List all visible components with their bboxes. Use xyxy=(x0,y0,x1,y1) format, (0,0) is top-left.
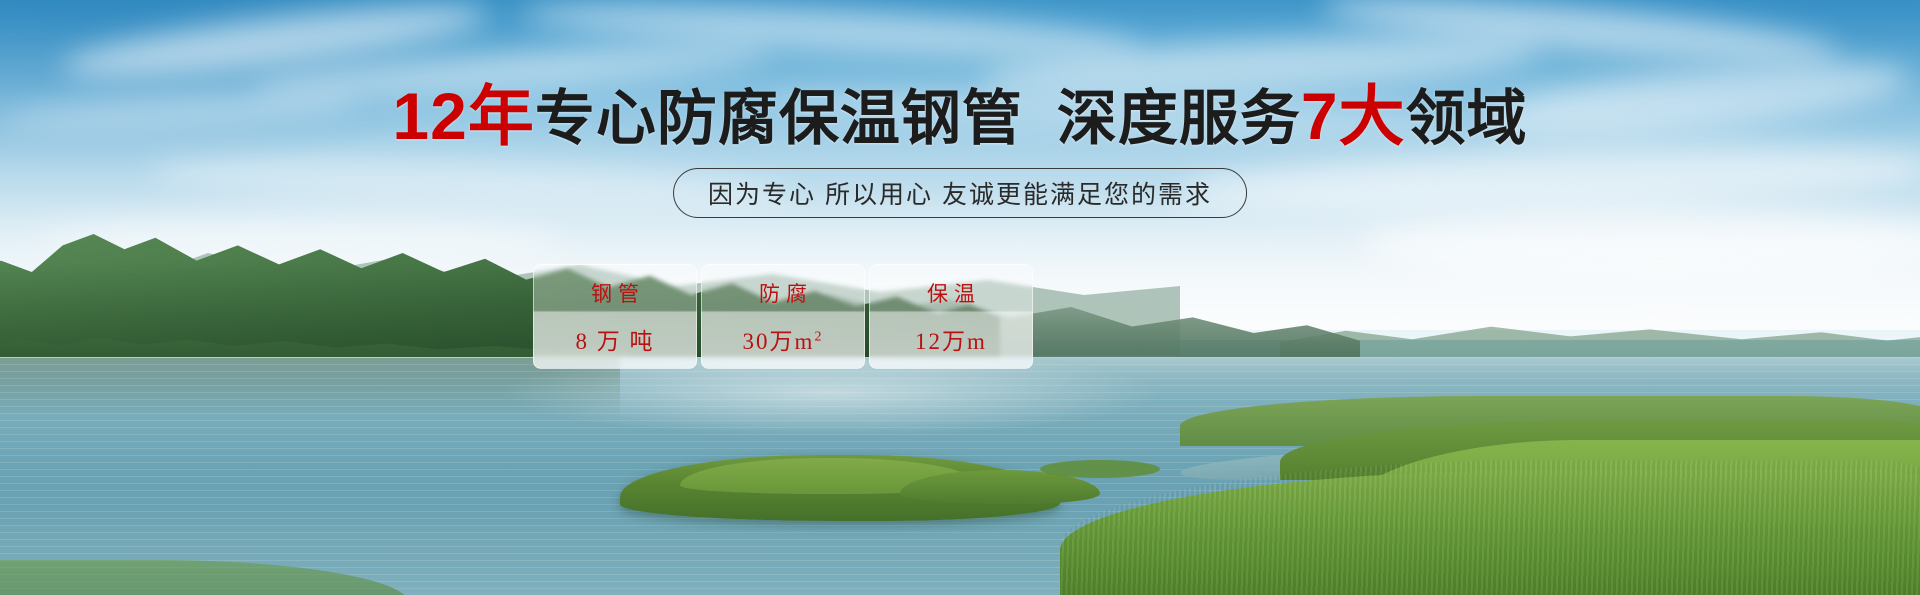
stats-card-group: 钢管 8 万 吨 防腐 30万m2 保温 12万m xyxy=(533,264,1033,369)
stat-card-value: 30万m2 xyxy=(743,322,824,356)
headline-segment-2: 深度服务 xyxy=(1057,85,1301,152)
stat-card-insulation[interactable]: 保温 12万m xyxy=(869,264,1033,369)
stat-card-title: 保温 xyxy=(921,278,981,308)
subtitle-pill: 因为专心 所以用心 友诚更能满足您的需求 xyxy=(673,168,1247,218)
headline: 12年专心防腐保温钢管深度服务7大领域 xyxy=(0,84,1920,151)
headline-segment-1: 专心防腐保温钢管 xyxy=(535,85,1023,152)
banner-content: 12年专心防腐保温钢管深度服务7大领域 因为专心 所以用心 友诚更能满足您的需求… xyxy=(0,0,1920,595)
stat-value-text: 12万m xyxy=(915,329,987,354)
stat-value-text: 30万m xyxy=(743,329,815,354)
stat-value-superscript: 2 xyxy=(814,329,823,344)
headline-fields: 7大 xyxy=(1301,79,1406,153)
stat-card-value: 8 万 吨 xyxy=(576,322,655,356)
hero-banner: 12年专心防腐保温钢管深度服务7大领域 因为专心 所以用心 友诚更能满足您的需求… xyxy=(0,0,1920,595)
stat-card-title: 钢管 xyxy=(585,278,645,308)
stat-card-anticorrosion[interactable]: 防腐 30万m2 xyxy=(701,264,865,369)
stat-value-text: 8 万 吨 xyxy=(576,329,655,354)
stat-card-steel-pipe[interactable]: 钢管 8 万 吨 xyxy=(533,264,697,369)
stat-card-value: 12万m xyxy=(915,322,987,356)
headline-years: 12年 xyxy=(392,79,534,153)
stat-card-title: 防腐 xyxy=(753,278,813,308)
subtitle-text: 因为专心 所以用心 友诚更能满足您的需求 xyxy=(708,175,1212,211)
headline-segment-3: 领域 xyxy=(1406,85,1528,152)
